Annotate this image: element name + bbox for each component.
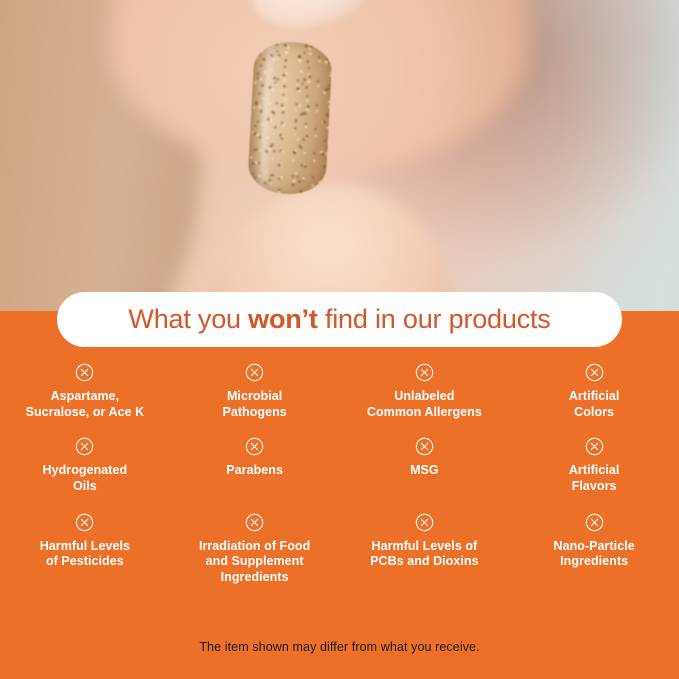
grid-row: Harmful Levels of Pesticides Irradiation… [0, 513, 679, 586]
claim-item: Aspartame, Sucralose, or Ace K [0, 363, 170, 420]
claim-label: Aspartame, Sucralose, or Ace K [26, 389, 145, 420]
claim-label: Harmful Levels of PCBs and Dioxins [370, 539, 478, 570]
circle-x-icon [245, 437, 264, 456]
claim-label: Harmful Levels of Pesticides [40, 539, 130, 570]
circle-x-icon [585, 513, 604, 532]
claim-item: Irradiation of Food and Supplement Ingre… [170, 513, 340, 586]
circle-x-icon [75, 513, 94, 532]
claim-label: Irradiation of Food and Supplement Ingre… [199, 539, 310, 586]
claim-label: Artificial Colors [569, 389, 620, 420]
claim-item: Parabens [170, 437, 340, 494]
circle-x-icon [585, 437, 604, 456]
claim-item: Nano-Particle Ingredients [509, 513, 679, 586]
product-photo [0, 0, 679, 312]
circle-x-icon [245, 363, 264, 382]
circle-x-icon [415, 513, 434, 532]
headline-pill: What you won’t find in our products [57, 292, 622, 347]
headline-emphasis: won’t [248, 304, 317, 334]
circle-x-icon [415, 363, 434, 382]
claim-label: MSG [410, 463, 439, 479]
circle-x-icon [585, 363, 604, 382]
grid-row: Hydrogenated Oils Parabens MSG Artificia… [0, 437, 679, 494]
excluded-ingredients-grid: Aspartame, Sucralose, or Ace K Microbial… [0, 363, 679, 585]
tablet-speckle-texture [247, 40, 333, 196]
page-title: What you won’t find in our products [128, 304, 550, 335]
grid-row: Aspartame, Sucralose, or Ace K Microbial… [0, 363, 679, 420]
circle-x-icon [75, 363, 94, 382]
claim-label: Unlabeled Common Allergens [367, 389, 482, 420]
claim-item: MSG [340, 437, 510, 494]
claim-item: Artificial Colors [509, 363, 679, 420]
photo-blur-layer [0, 0, 679, 312]
claim-item: Artificial Flavors [509, 437, 679, 494]
claim-label: Microbial Pathogens [222, 389, 286, 420]
product-claims-banner: What you won’t find in our products Aspa… [0, 0, 679, 679]
claim-label: Nano-Particle Ingredients [554, 539, 635, 570]
claim-item: Unlabeled Common Allergens [340, 363, 510, 420]
circle-x-icon [245, 513, 264, 532]
disclaimer-text: The item shown may differ from what you … [0, 640, 679, 654]
headline-after: find in our products [318, 304, 551, 334]
circle-x-icon [415, 437, 434, 456]
claim-label: Parabens [226, 463, 283, 479]
circle-x-icon [75, 437, 94, 456]
claim-item: Harmful Levels of Pesticides [0, 513, 170, 586]
claim-label: Artificial Flavors [569, 463, 620, 494]
headline-before: What you [128, 304, 248, 334]
claim-item: Microbial Pathogens [170, 363, 340, 420]
claim-item: Harmful Levels of PCBs and Dioxins [340, 513, 510, 586]
supplement-tablet [247, 40, 333, 196]
claim-item: Hydrogenated Oils [0, 437, 170, 494]
claim-label: Hydrogenated Oils [43, 463, 128, 494]
